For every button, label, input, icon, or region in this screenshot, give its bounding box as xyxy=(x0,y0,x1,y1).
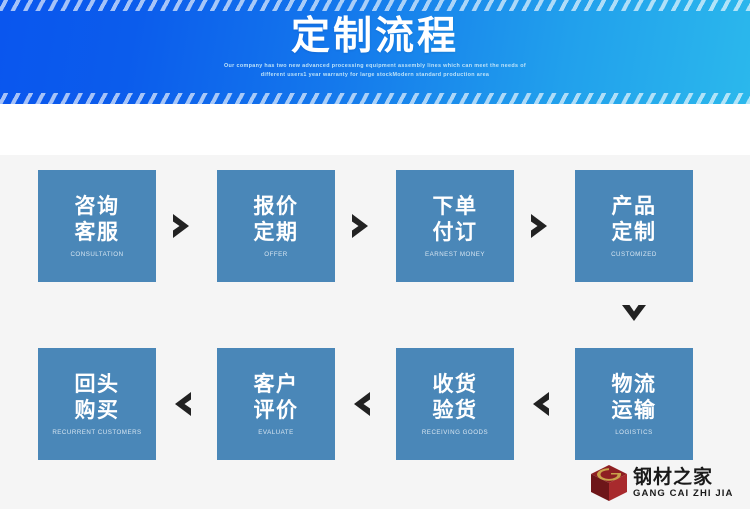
chevron-right-icon xyxy=(344,209,378,243)
flow-step-title-line2: 验货 xyxy=(433,399,478,422)
flow-step-subtitle: EARNEST MONEY xyxy=(425,251,485,259)
flow-step-subtitle: LOGISTICS xyxy=(615,429,653,437)
flow-step-title-line2: 购买 xyxy=(75,399,120,422)
flow-step-title: 物流 运输 xyxy=(612,372,657,424)
brand-name-cn: 钢材之家 xyxy=(633,467,733,488)
flow-step-receiving-goods[interactable]: 收货 验货 RECEIVING GOODS xyxy=(396,348,514,460)
flow-step-title: 回头 购买 xyxy=(75,372,120,424)
flow-step-recurrent-customers[interactable]: 回头 购买 RECURRENT CUSTOMERS xyxy=(38,348,156,460)
cube-logo-icon xyxy=(588,462,630,504)
flow-step-title-line1: 收货 xyxy=(433,373,478,396)
flow-step-title-line1: 客户 xyxy=(254,373,299,396)
flow-step-customized[interactable]: 产品 定制 CUSTOMIZED xyxy=(575,170,693,282)
flow-step-subtitle: OFFER xyxy=(264,251,287,259)
flow-step-title-line2: 运输 xyxy=(612,399,657,422)
flow-step-title-line1: 下单 xyxy=(433,195,478,218)
chevron-right-icon xyxy=(165,209,199,243)
flow-step-title: 收货 验货 xyxy=(433,372,478,424)
flow-step-title-line1: 回头 xyxy=(75,373,120,396)
flow-step-earnest-money[interactable]: 下单 付订 EARNEST MONEY xyxy=(396,170,514,282)
flow-step-title-line2: 客服 xyxy=(75,221,120,244)
flow-step-subtitle: RECEIVING GOODS xyxy=(422,429,488,437)
chevron-left-icon xyxy=(523,387,557,421)
flow-step-title-line2: 定制 xyxy=(612,221,657,244)
flow-step-title-line1: 报价 xyxy=(254,195,299,218)
flow-step-title: 客户 评价 xyxy=(254,372,299,424)
flow-step-subtitle: CONSULTATION xyxy=(70,251,123,259)
flow-step-subtitle: RECURRENT CUSTOMERS xyxy=(52,429,141,437)
flow-step-title-line2: 评价 xyxy=(254,399,299,422)
banner-stripe-bottom xyxy=(0,93,750,104)
flow-step-offer[interactable]: 报价 定期 OFFER xyxy=(217,170,335,282)
main-content: 咨询 客服 CONSULTATION 报价 定期 OFFER 下单 xyxy=(0,104,750,509)
banner-subtitle: Our company has two new advanced process… xyxy=(0,62,750,80)
brand-name-en: GANG CAI ZHI JIA xyxy=(633,488,733,500)
flow-step-title-line2: 付订 xyxy=(433,221,478,244)
banner-stripe-top xyxy=(0,0,750,11)
flow-step-title: 报价 定期 xyxy=(254,194,299,246)
flow-step-subtitle: EVALUATE xyxy=(258,429,293,437)
flow-step-title-line1: 物流 xyxy=(612,373,657,396)
flow-step-title: 咨询 客服 xyxy=(75,194,120,246)
flow-step-title-line1: 咨询 xyxy=(75,195,120,218)
flow-step-title-line2: 定期 xyxy=(254,221,299,244)
brand-logo-text: 钢材之家 GANG CAI ZHI JIA xyxy=(633,467,733,500)
flow-step-subtitle: CUSTOMIZED xyxy=(611,251,657,259)
flow-step-logistics[interactable]: 物流 运输 LOGISTICS xyxy=(575,348,693,460)
flow-step-title-line1: 产品 xyxy=(612,195,657,218)
chevron-down-icon xyxy=(617,297,651,331)
chevron-right-icon xyxy=(523,209,557,243)
page-title: 定制流程 xyxy=(0,14,750,60)
flow-step-title: 下单 付订 xyxy=(433,194,478,246)
flow-step-consultation[interactable]: 咨询 客服 CONSULTATION xyxy=(38,170,156,282)
chevron-left-icon xyxy=(165,387,199,421)
chevron-left-icon xyxy=(344,387,378,421)
flow-step-evaluate[interactable]: 客户 评价 EVALUATE xyxy=(217,348,335,460)
brand-logo[interactable]: 钢材之家 GANG CAI ZHI JIA xyxy=(588,460,748,506)
flow-step-title: 产品 定制 xyxy=(612,194,657,246)
flow-diagram: 咨询 客服 CONSULTATION 报价 定期 OFFER 下单 xyxy=(0,155,750,509)
page-banner: 定制流程 Our company has two new advanced pr… xyxy=(0,0,750,104)
